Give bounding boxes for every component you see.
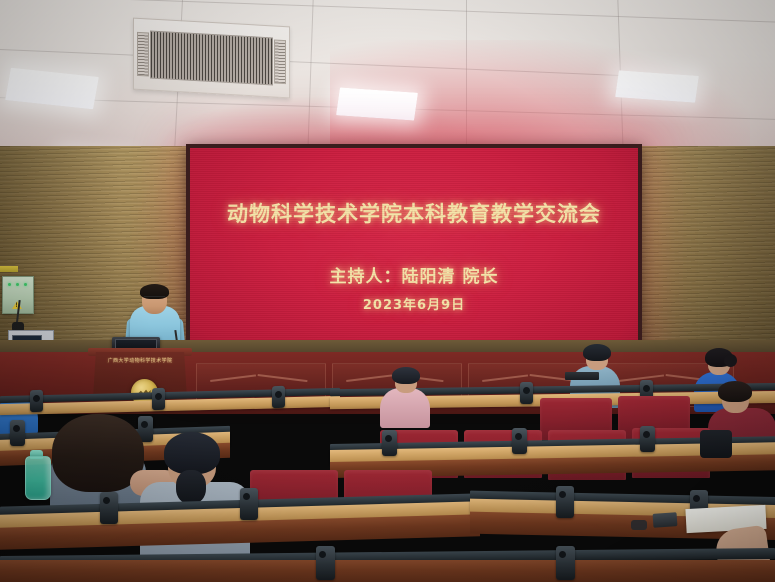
screen-surface: 动物科学技术学院本科教育教学交流会 主持人：陆阳清 院长 2023年6月9日 <box>190 148 638 364</box>
ac-vent-grille <box>150 31 273 86</box>
desk-bracket <box>640 426 655 452</box>
desk-bracket <box>512 428 527 454</box>
laptop-computer-icon <box>565 372 599 380</box>
screen-scanlines <box>190 148 638 364</box>
desk-bracket <box>272 386 285 408</box>
desk-bracket <box>520 382 533 404</box>
status-led <box>16 283 19 286</box>
desk-bracket <box>152 388 165 410</box>
ceiling-tile-seam <box>0 0 775 23</box>
desk-bracket <box>316 546 335 580</box>
attendee-mid-left-pink-torso <box>380 388 430 428</box>
screen-date: 2023年6月9日 <box>190 294 638 313</box>
yellow-conduit <box>0 266 18 272</box>
ceiling-panel-light <box>336 87 418 120</box>
desk-bracket <box>556 486 574 518</box>
ac-vent-louver <box>137 32 149 77</box>
desk-bracket <box>556 546 575 580</box>
screen-host-line: 主持人：陆阳清 院长 <box>190 262 638 287</box>
attendee-plaid-hair <box>583 344 611 361</box>
desk-bracket <box>10 420 25 446</box>
ac-vent-louver <box>274 39 286 84</box>
status-led <box>24 283 27 286</box>
attendee-center-ponytail <box>176 470 206 504</box>
attendee-maroon-hair <box>718 381 752 402</box>
attendee-right-blue-bun <box>724 354 737 367</box>
desk-front-panel <box>0 560 775 582</box>
attendee-center-hair <box>164 432 220 474</box>
desk-bracket <box>382 430 397 456</box>
ceiling-ac-vent-icon <box>133 18 290 99</box>
green-water-bottle-icon <box>25 456 51 500</box>
screen-title: 动物科学技术学院本科教育教学交流会 <box>190 198 638 228</box>
ceiling-panel-light <box>615 70 699 102</box>
attendee-pink-hair <box>392 367 420 384</box>
led-display-screen: 动物科学技术学院本科教育教学交流会 主持人：陆阳清 院长 2023年6月9日 <box>186 144 642 368</box>
black-bag-icon <box>700 430 732 458</box>
desk-bracket <box>100 492 118 524</box>
podium-inscription: 广西大学动物科学技术学院 <box>96 357 184 366</box>
status-led <box>8 283 11 286</box>
ceiling <box>0 0 775 152</box>
keychain-icon <box>631 520 647 530</box>
desk-bracket <box>240 488 258 520</box>
desk-bracket <box>30 390 43 412</box>
ceiling-panel-light <box>5 68 99 110</box>
lecture-hall-photo: 动物科学技术学院本科教育教学交流会 主持人：陆阳清 院长 2023年6月9日 <box>0 0 775 582</box>
mobile-phone-icon <box>653 512 678 528</box>
speaker-glasses-icon <box>144 296 165 302</box>
